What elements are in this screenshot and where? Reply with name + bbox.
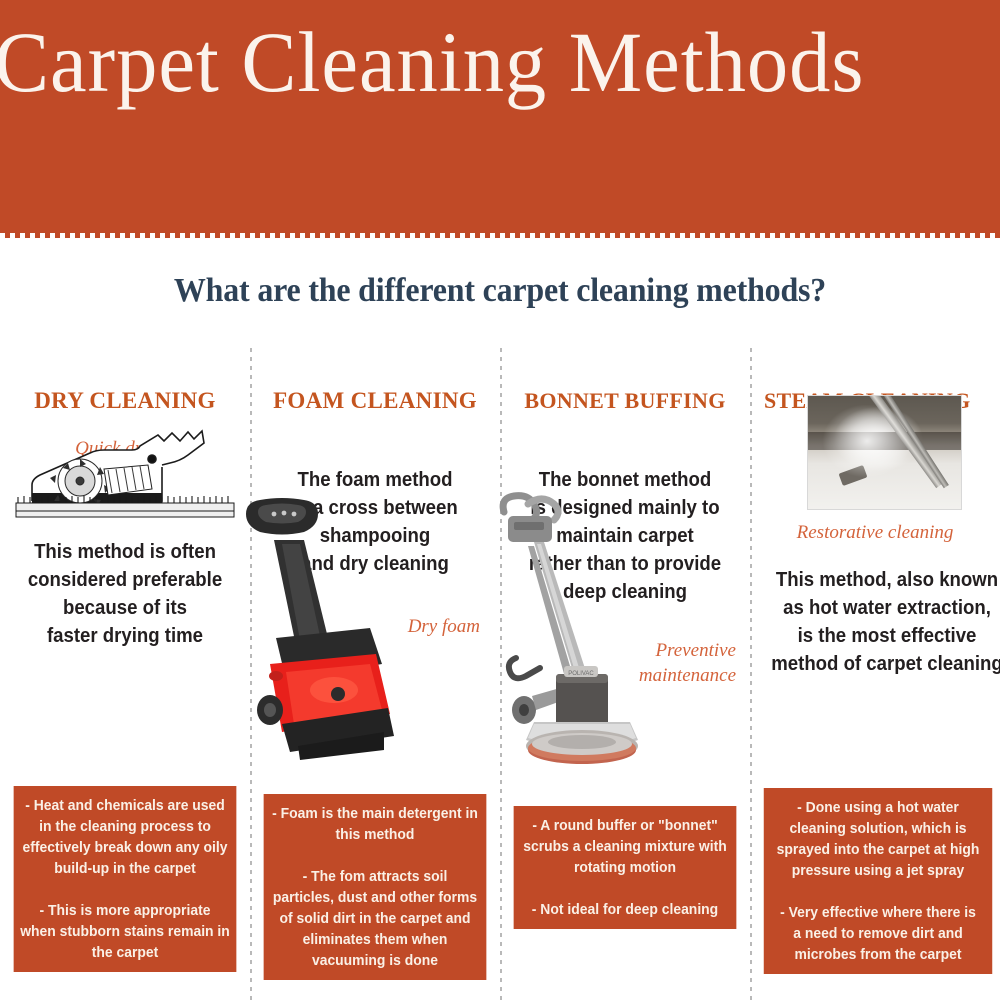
body-text-steam-cleaning: This method, also known as hot water ext…	[763, 566, 1000, 678]
bullets-dry-cleaning: - Heat and chemicals are used in the cle…	[14, 786, 237, 972]
svg-text:POLIVAC: POLIVAC	[568, 671, 594, 677]
bullets-foam-cleaning: - Foam is the main detergent in this met…	[264, 794, 487, 980]
infographic-poster: Carpet Cleaning Methods What are the dif…	[0, 0, 1000, 1000]
column-title-bonnet-buffing: BONNET BUFFING	[500, 388, 750, 414]
methods-columns: DRY CLEANING Quick drying	[0, 348, 1000, 1000]
column-title-foam-cleaning: FOAM CLEANING	[250, 388, 500, 414]
steam-cleaning-photo	[807, 395, 962, 510]
foam-extractor-machine-icon	[242, 488, 402, 773]
method-column-bonnet-buffing: BONNET BUFFING The bonnet method is desi…	[500, 348, 750, 1000]
method-column-steam-cleaning: STEAM CLEANING Restorative cleaning This…	[750, 348, 1000, 1000]
bullets-steam-cleaning: - Done using a hot water cleaning soluti…	[764, 788, 992, 974]
section-subtitle: What are the different carpet cleaning m…	[30, 272, 970, 310]
body-text-dry-cleaning: This method is often considered preferab…	[9, 538, 242, 650]
column-title-dry-cleaning: DRY CLEANING	[0, 388, 250, 414]
method-column-dry-cleaning: DRY CLEANING Quick drying	[0, 348, 250, 1000]
bullets-bonnet-buffing: - A round buffer or "bonnet" scrubs a cl…	[514, 806, 737, 929]
tagline-restorative-cleaning: Restorative cleaning	[750, 520, 1000, 545]
header-band: Carpet Cleaning Methods	[0, 0, 1000, 238]
header-dotted-divider	[0, 233, 1000, 238]
method-column-foam-cleaning: FOAM CLEANING The foam method is a cross…	[250, 348, 500, 1000]
dry-cleaning-machine-icon	[12, 423, 238, 523]
page-title: Carpet Cleaning Methods	[0, 6, 973, 118]
floor-buffer-machine-icon: POLIVAC	[498, 488, 668, 773]
